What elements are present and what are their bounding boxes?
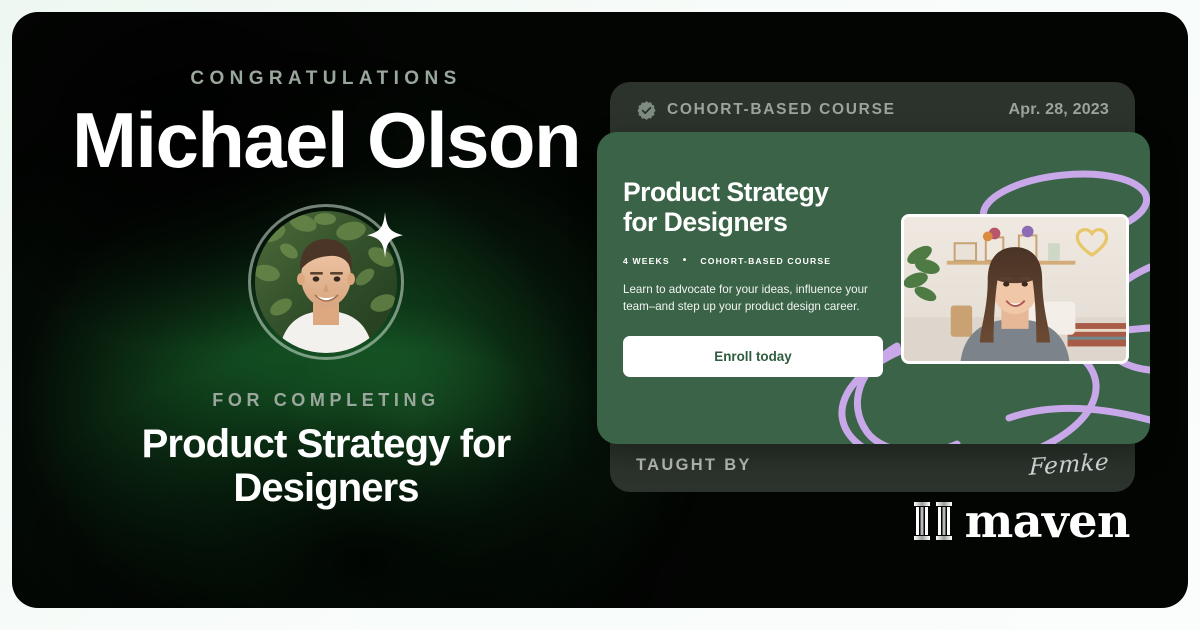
avatar bbox=[248, 204, 404, 360]
avatar-ring bbox=[248, 204, 404, 360]
maven-logo: maven bbox=[914, 498, 1130, 544]
course-date: Apr. 28, 2023 bbox=[1009, 101, 1109, 119]
instructor-video-thumbnail[interactable] bbox=[901, 214, 1129, 364]
instructor-signature: Femke bbox=[1028, 449, 1109, 481]
completed-course-title: Product Strategy for Designers bbox=[66, 423, 586, 509]
course-title: Product Strategy for Designers bbox=[623, 178, 889, 238]
course-info: Product Strategy for Designers 4 WEEKS •… bbox=[597, 132, 889, 444]
taught-by-label: TAUGHT BY bbox=[636, 456, 752, 475]
certificate-card: CONGRATULATIONS Michael Olson bbox=[12, 12, 1188, 608]
verified-badge-icon bbox=[636, 100, 657, 121]
for-completing-label: FOR COMPLETING bbox=[212, 390, 439, 411]
recipient-name: Michael Olson bbox=[72, 102, 580, 178]
instructor-media bbox=[889, 132, 1150, 444]
certificate-left-column: CONGRATULATIONS Michael Olson bbox=[24, 12, 628, 608]
course-duration: 4 WEEKS bbox=[623, 256, 670, 266]
course-card-header: COHORT-BASED COURSE Apr. 28, 2023 bbox=[610, 82, 1135, 138]
congratulations-kicker: CONGRATULATIONS bbox=[190, 68, 461, 90]
course-card-footer: TAUGHT BY Femke bbox=[610, 438, 1135, 492]
course-type-label: COHORT-BASED COURSE bbox=[667, 101, 896, 119]
maven-columns-icon bbox=[914, 501, 952, 541]
course-format: COHORT-BASED COURSE bbox=[700, 256, 831, 266]
course-detail-card[interactable]: Product Strategy for Designers 4 WEEKS •… bbox=[597, 132, 1150, 444]
share-card-canvas: CONGRATULATIONS Michael Olson bbox=[0, 0, 1200, 630]
course-card[interactable]: COHORT-BASED COURSE Apr. 28, 2023 TAUGHT… bbox=[610, 82, 1150, 492]
course-title-line2: for Designers bbox=[623, 207, 787, 237]
meta-separator: • bbox=[683, 256, 688, 266]
course-description: Learn to advocate for your ideas, influe… bbox=[623, 281, 881, 316]
enroll-today-button[interactable]: Enroll today bbox=[623, 336, 883, 377]
course-title-line1: Product Strategy bbox=[623, 177, 829, 207]
maven-wordmark: maven bbox=[965, 498, 1130, 544]
course-meta: 4 WEEKS • COHORT-BASED COURSE bbox=[623, 256, 889, 266]
